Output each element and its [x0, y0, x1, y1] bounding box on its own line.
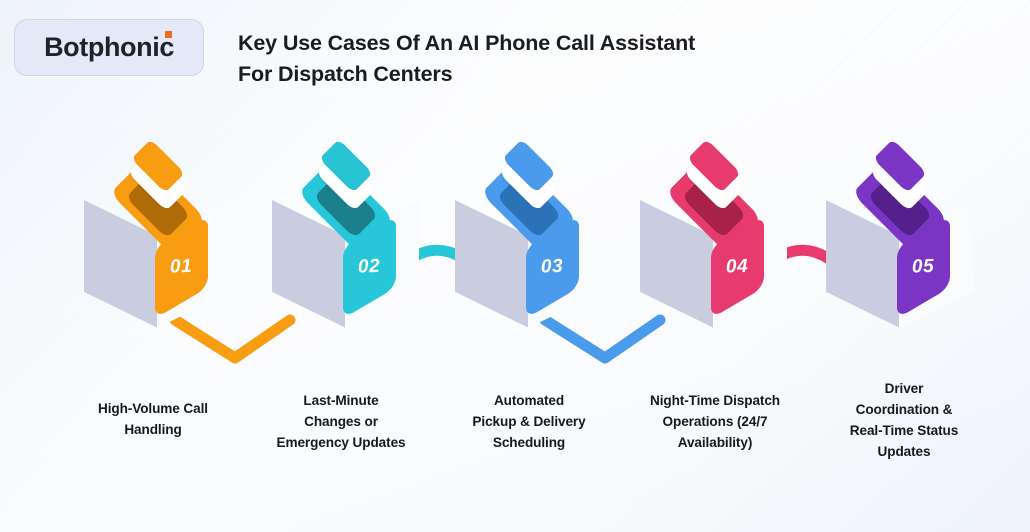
step-02-caption-line-1: Last-Minute: [248, 390, 434, 411]
step-04-caption: Night-Time Dispatch Operations (24/7 Ava…: [617, 390, 813, 453]
step-05-caption-line-1: Driver: [806, 378, 1002, 399]
process-step-04[interactable]: 04: [632, 152, 832, 382]
process-step-05[interactable]: 05: [818, 152, 1018, 382]
step-03-number: 03: [541, 256, 564, 279]
step-03-caption-line-3: Scheduling: [438, 432, 620, 453]
step-01-caption: High-Volume Call Handling: [62, 398, 244, 440]
step-02-number: 02: [358, 256, 381, 279]
step-01-lid-color-cap: [115, 140, 201, 192]
step-05-lid-color-cap: [857, 140, 943, 192]
process-step-02[interactable]: 02: [264, 152, 464, 382]
step-03-caption-line-2: Pickup & Delivery: [438, 411, 620, 432]
process-step-01[interactable]: 01: [76, 152, 276, 382]
step-02-lid-color-cap: [303, 140, 389, 192]
step-03-lid-color-cap: [486, 140, 572, 192]
step-05-caption-line-4: Updates: [806, 441, 1002, 462]
step-05-number: 05: [912, 256, 935, 279]
step-02-lid-color-face: [319, 139, 373, 193]
step-05-lid-color-face: [873, 139, 927, 193]
step-04-number: 04: [726, 256, 749, 279]
process-diagram: 01 02: [0, 0, 1030, 532]
step-03-caption-line-1: Automated: [438, 390, 620, 411]
step-04-lid-color-face: [687, 139, 741, 193]
step-01-caption-line-2: Handling: [62, 419, 244, 440]
step-01-lid-color-face: [131, 139, 185, 193]
step-02-caption-line-2: Changes or: [248, 411, 434, 432]
step-04-caption-line-3: Availability): [617, 432, 813, 453]
step-03-caption: Automated Pickup & Delivery Scheduling: [438, 390, 620, 453]
step-04-lid-color-cap: [671, 140, 757, 192]
step-01-caption-line-1: High-Volume Call: [62, 398, 244, 419]
step-05-caption-line-2: Coordination &: [806, 399, 1002, 420]
process-step-03[interactable]: 03: [447, 152, 647, 382]
step-04-caption-line-2: Operations (24/7: [617, 411, 813, 432]
step-01-number: 01: [170, 256, 193, 279]
step-02-caption: Last-Minute Changes or Emergency Updates: [248, 390, 434, 453]
step-03-lid-color-face: [502, 139, 556, 193]
step-05-caption: Driver Coordination & Real-Time Status U…: [806, 378, 1002, 462]
step-04-caption-line-1: Night-Time Dispatch: [617, 390, 813, 411]
step-05-caption-line-3: Real-Time Status: [806, 420, 1002, 441]
step-02-caption-line-3: Emergency Updates: [248, 432, 434, 453]
